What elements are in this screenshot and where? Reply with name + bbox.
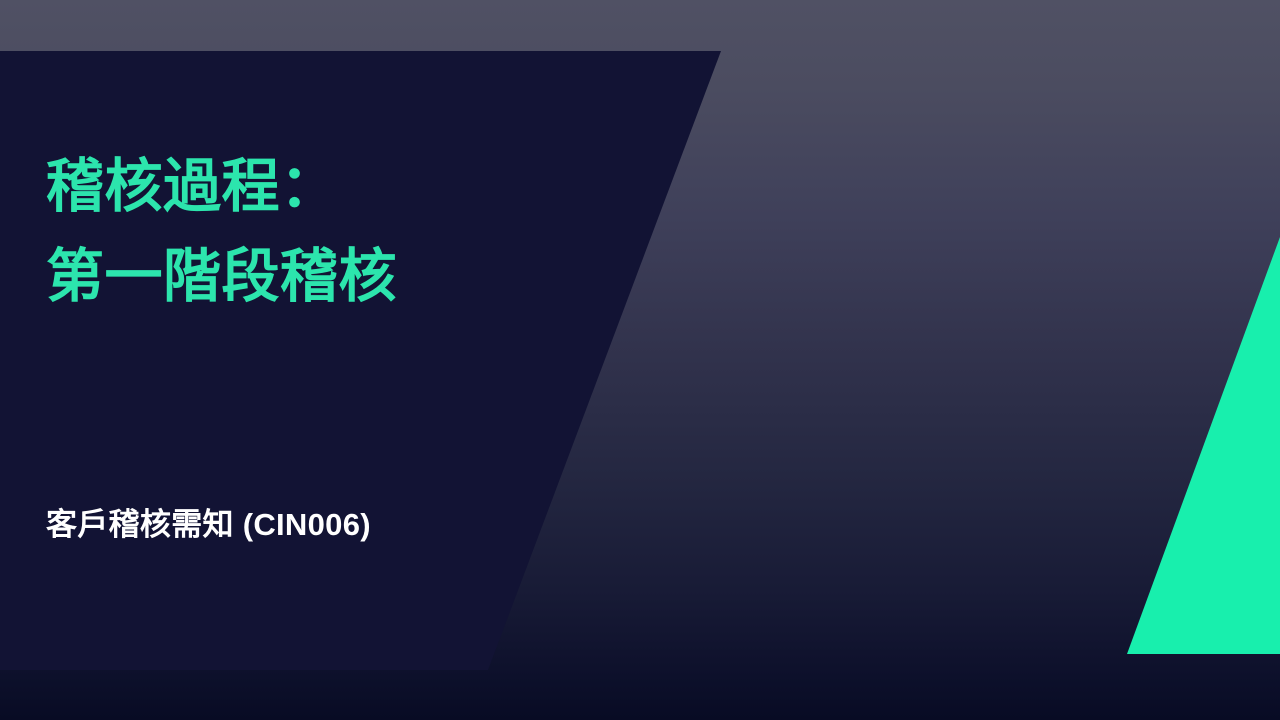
page-subtitle: 客戶稽核需知 (CIN006): [46, 503, 371, 547]
title-slide: 稽核過程： 第一階段稽核 客戶稽核需知 (CIN006): [0, 0, 1280, 720]
page-title-line-1: 稽核過程：: [46, 142, 666, 232]
slide-text-layer: 稽核過程： 第一階段稽核 客戶稽核需知 (CIN006): [0, 0, 1280, 720]
page-title: 稽核過程： 第一階段稽核: [46, 142, 666, 322]
page-title-line-2: 第一階段稽核: [46, 232, 666, 322]
